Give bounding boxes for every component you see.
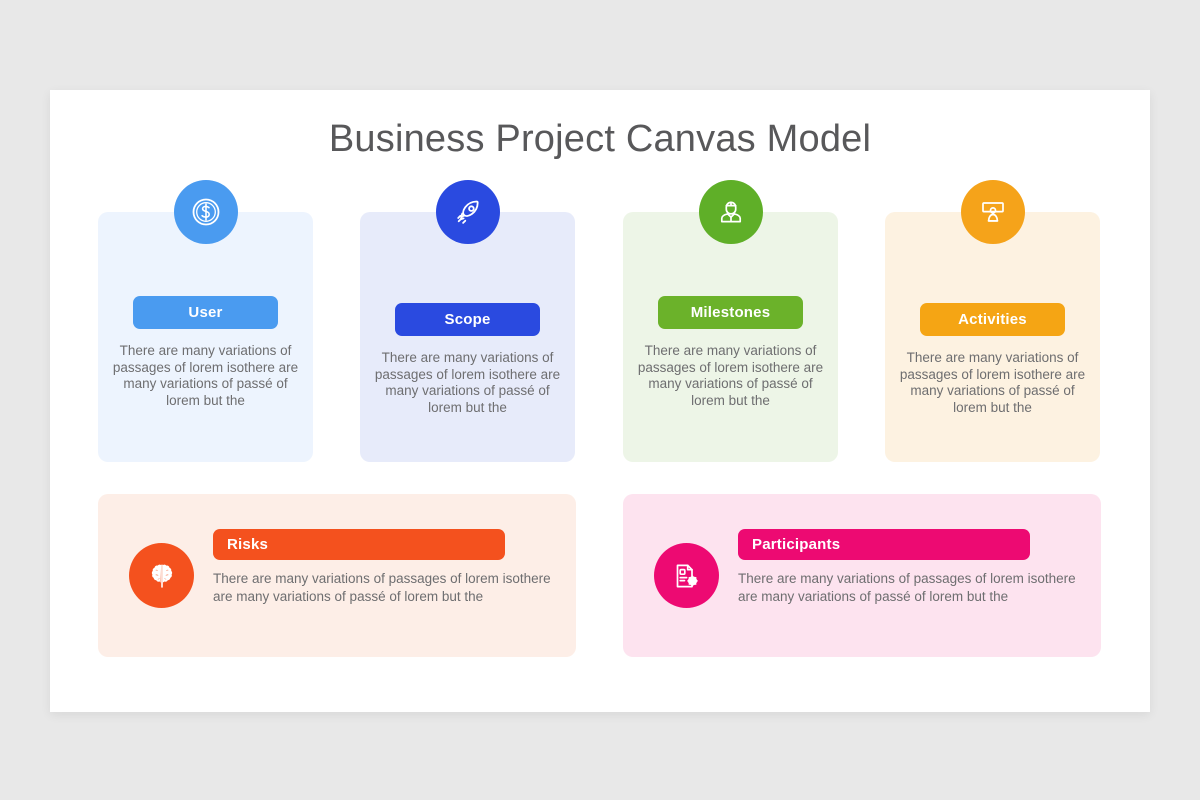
- card-description: There are many variations of passages of…: [374, 350, 561, 416]
- dollar-coin-icon: [174, 180, 238, 244]
- card-description: There are many variations of passages of…: [738, 570, 1088, 606]
- card-risks[interactable]: Risks There are many variations of passa…: [98, 494, 576, 657]
- rocket-icon: [436, 180, 500, 244]
- card-description: There are many variations of passages of…: [637, 343, 824, 409]
- card-participants[interactable]: Participants There are many variations o…: [623, 494, 1101, 657]
- presenter-board-icon: [961, 180, 1025, 244]
- top-card-row: User There are many variations of passag…: [98, 212, 1102, 462]
- card-description: There are many variations of passages of…: [899, 350, 1086, 416]
- card-milestones[interactable]: Milestones There are many variations of …: [623, 212, 838, 462]
- brain-icon: [129, 543, 194, 608]
- slide-canvas: Business Project Canvas Model User There…: [50, 90, 1150, 712]
- card-label-chip[interactable]: User: [133, 296, 278, 329]
- card-label-chip[interactable]: Participants: [738, 529, 1030, 560]
- businessman-icon: [699, 180, 763, 244]
- card-activities[interactable]: Activities There are many variations of …: [885, 212, 1100, 462]
- card-scope[interactable]: Scope There are many variations of passa…: [360, 212, 575, 462]
- card-description: There are many variations of passages of…: [112, 343, 299, 409]
- card-label-chip[interactable]: Milestones: [658, 296, 803, 329]
- bottom-card-row: Risks There are many variations of passa…: [98, 494, 1102, 659]
- card-label-chip[interactable]: Risks: [213, 529, 505, 560]
- card-label-chip[interactable]: Activities: [920, 303, 1065, 336]
- page-title: Business Project Canvas Model: [50, 118, 1150, 161]
- document-settings-icon: [654, 543, 719, 608]
- card-description: There are many variations of passages of…: [213, 570, 563, 606]
- card-user[interactable]: User There are many variations of passag…: [98, 212, 313, 462]
- card-label-chip[interactable]: Scope: [395, 303, 540, 336]
